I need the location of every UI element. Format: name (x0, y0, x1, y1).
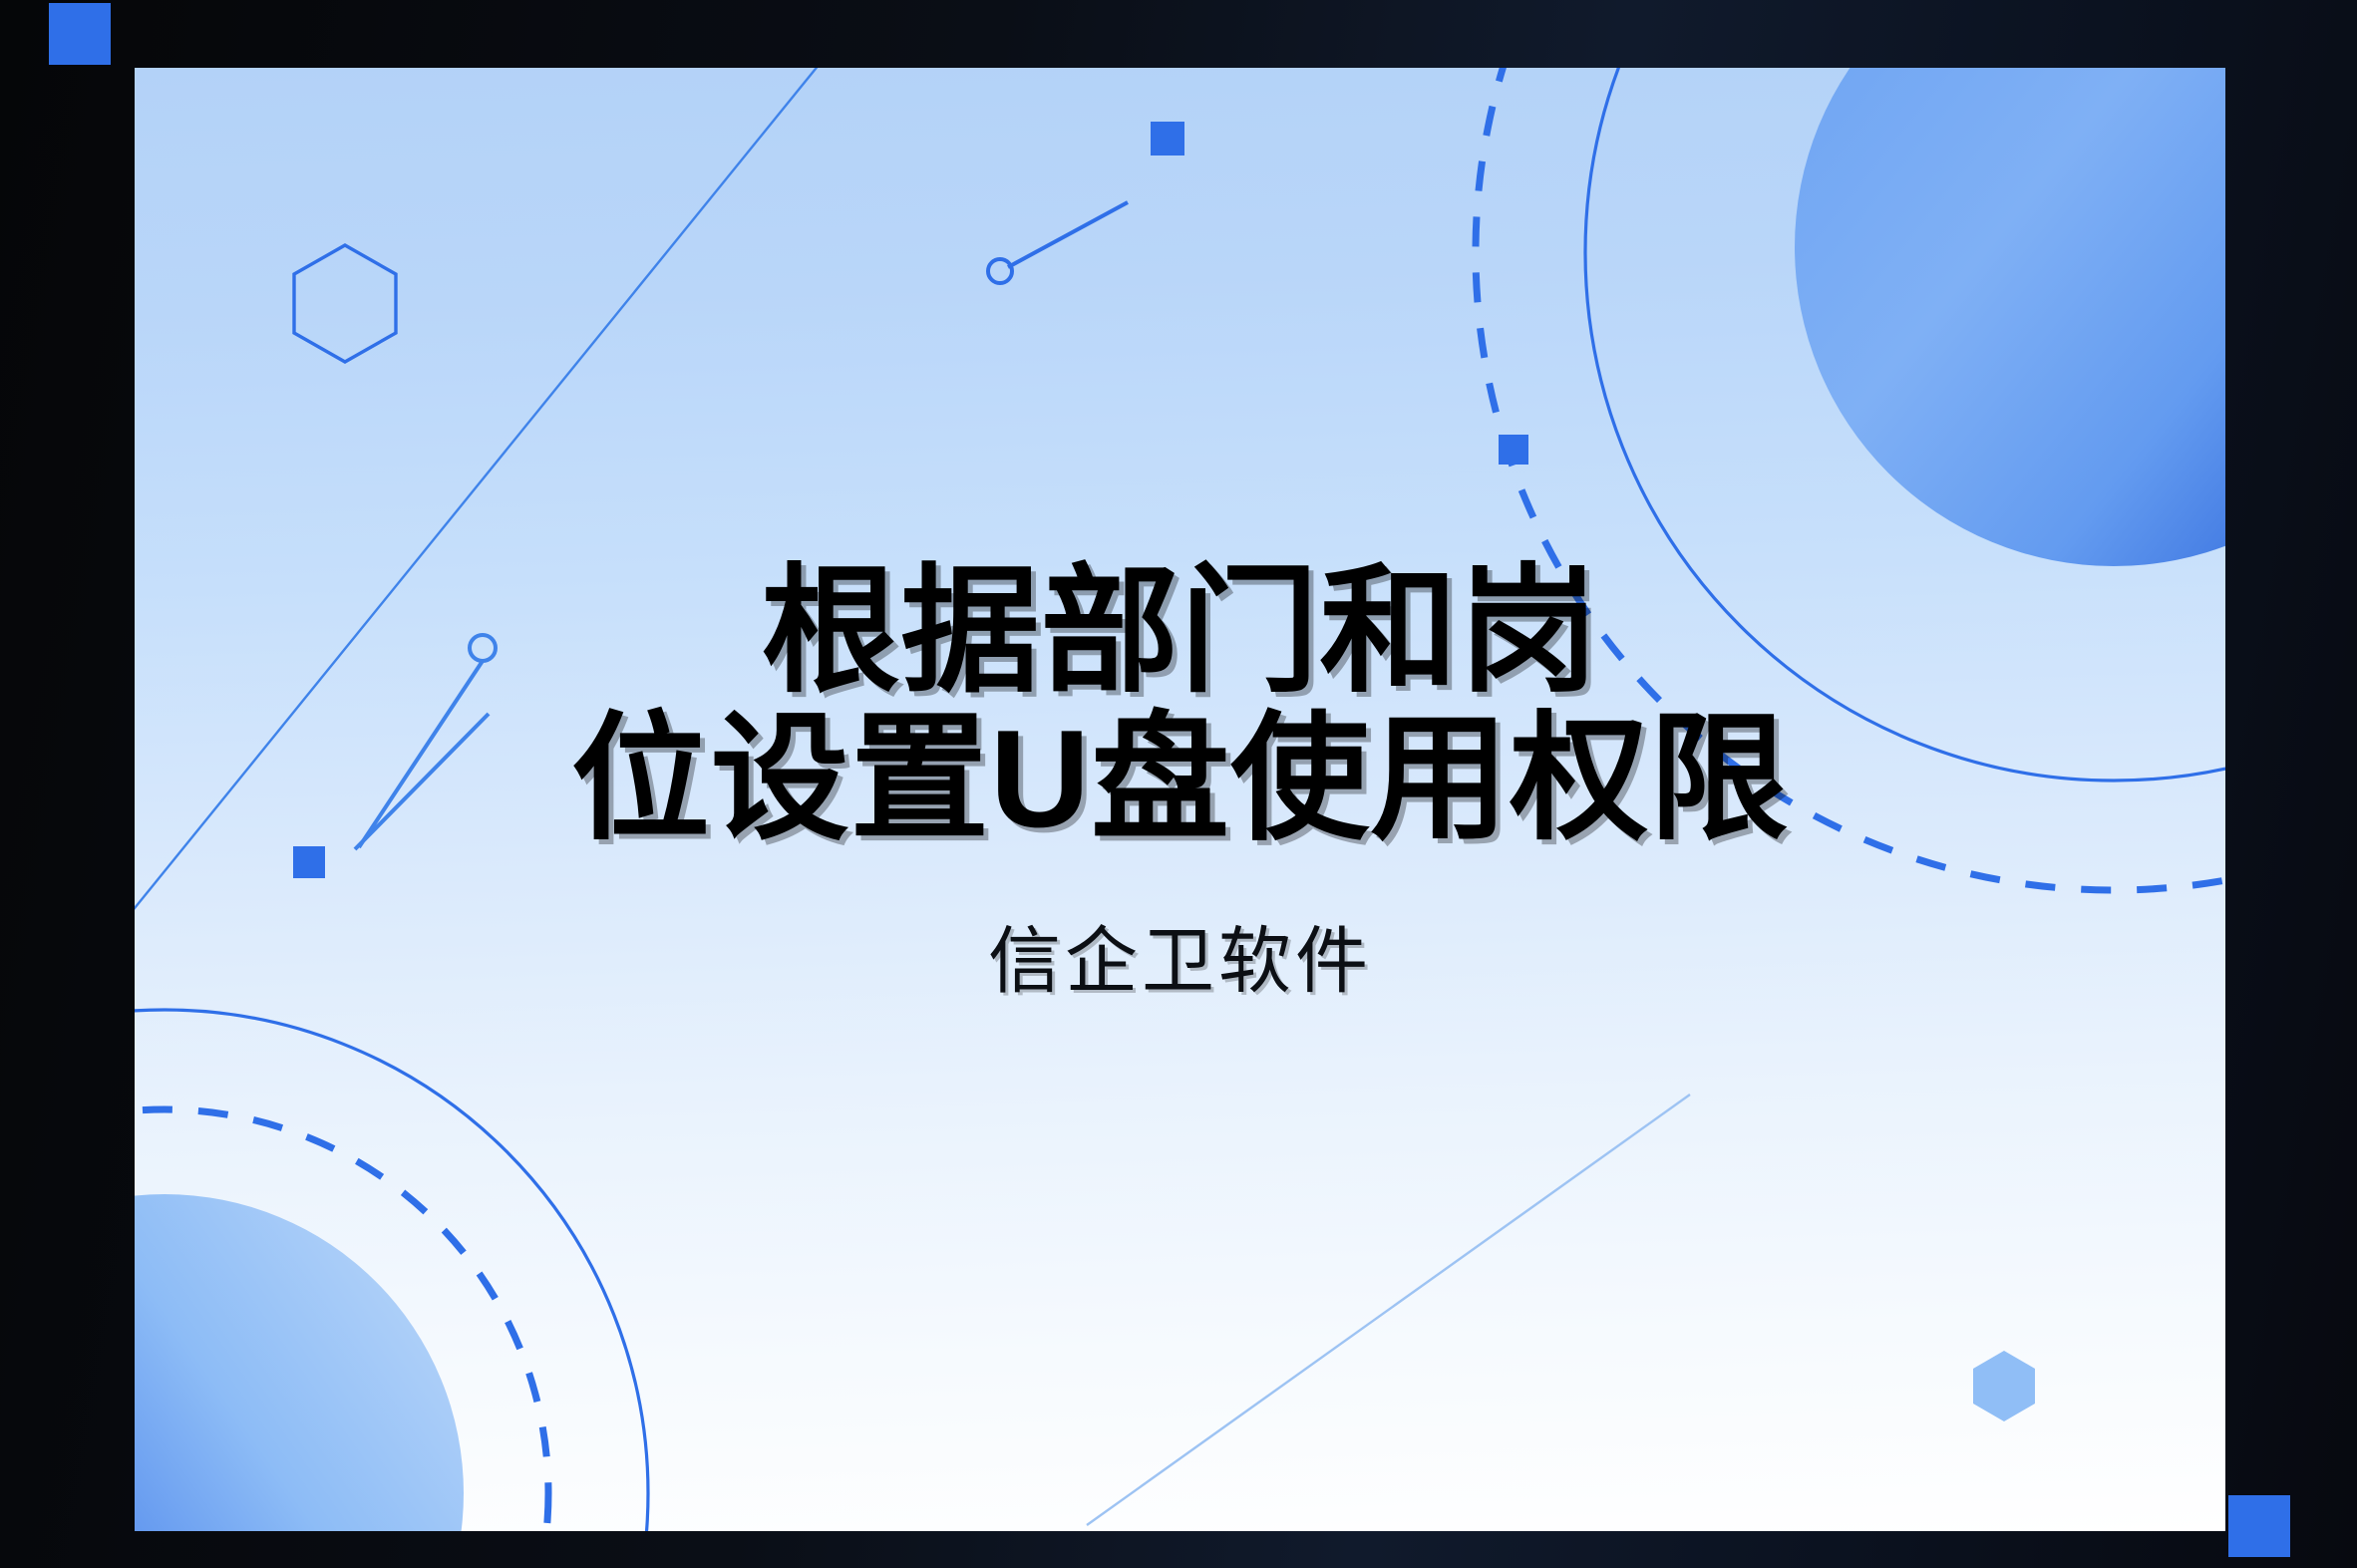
slide-canvas: 根据部门和岗 位设置U盘使用权限 信企卫软件 (135, 68, 2225, 1531)
decor-square-top-left-corner (49, 3, 111, 65)
slide-subtitle: 信企卫软件 (988, 922, 1372, 1002)
page-title: 根据部门和岗 位设置U盘使用权限 (571, 561, 1789, 850)
title-line-1: 根据部门和岗 (571, 561, 1789, 703)
presentation-stage: 根据部门和岗 位设置U盘使用权限 信企卫软件 (0, 0, 2357, 1568)
title-line-2: 位设置U盘使用权限 (571, 709, 1789, 850)
decor-square-bottom-right-corner (2228, 1495, 2290, 1557)
slide-content: 根据部门和岗 位设置U盘使用权限 信企卫软件 (135, 68, 2225, 1531)
